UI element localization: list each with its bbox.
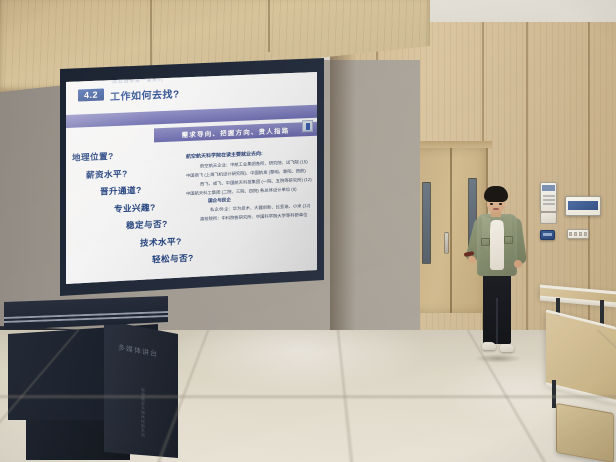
screen-surface: 就业指导第一课系列 4.2 工作如何去找? 需求导向、把握方向、贵人指路 地理位… — [66, 72, 317, 284]
slide-body-text: 航空航天科学院在读主要就业去向: 航空航天企业：中航工业集团各所、研究院、试飞院… — [186, 148, 314, 226]
switch-toggle[interactable] — [584, 232, 587, 236]
presenter-hand-right — [514, 260, 522, 268]
slide-left-question-list: 地理位置? 薪资水平? 晋升通道? 专业兴趣? 稳定与否? 技术水平? 轻松与否… — [66, 147, 184, 274]
wall-corner-shadow — [330, 22, 356, 352]
wall-sensor-box — [540, 212, 557, 224]
list-item: 专业兴趣? — [66, 200, 184, 217]
door-center-seam — [450, 148, 452, 313]
control-panel-screen — [568, 201, 598, 210]
presenter-eye-left — [490, 203, 493, 205]
presenter-leg-seam — [496, 298, 498, 344]
presenter-shoe-right — [500, 344, 514, 352]
switch-toggle[interactable] — [574, 232, 577, 236]
blue-wall-device[interactable] — [540, 230, 555, 240]
wall-notice-card-holder — [540, 182, 557, 212]
switch-toggle[interactable] — [569, 232, 572, 236]
list-item: 稳定与否? — [66, 217, 184, 234]
light-switch-plate[interactable] — [567, 229, 589, 239]
presenter-hand-left — [467, 255, 476, 264]
door-window-left — [422, 182, 431, 264]
school-logo-icon — [302, 120, 313, 132]
door-handle[interactable] — [444, 232, 449, 254]
list-item: 晋升通道? — [66, 182, 184, 199]
list-item: 轻松与否? — [66, 252, 184, 269]
body-row: 高校院所：中科院各研究所、中国科学院大学等科研单位 — [186, 212, 314, 223]
presenter-jacket-pocket-left — [481, 238, 490, 246]
presenter-hair — [484, 186, 508, 202]
chair-back[interactable] — [556, 403, 614, 462]
slide-section-number: 4.2 — [78, 88, 104, 101]
presenter-shadow — [474, 354, 522, 363]
lectern[interactable]: 多媒体讲台 智慧教室多媒体控制系统 — [0, 296, 182, 462]
presenter-eye-right — [499, 203, 502, 205]
presentation-slide: 就业指导第一课系列 4.2 工作如何去找? 需求导向、把握方向、贵人指路 地理位… — [66, 72, 317, 284]
list-item: 地理位置? — [66, 147, 184, 164]
presenter-mouth — [493, 208, 499, 210]
slide-banner: 需求导向、把握方向、贵人指路 — [154, 122, 317, 143]
room-control-display-panel[interactable] — [565, 196, 601, 216]
slide-title: 工作如何去找? — [110, 85, 180, 103]
presenter-shirt-front — [490, 220, 504, 270]
list-item: 技术水平? — [66, 235, 184, 252]
presenter-shoe-left — [482, 342, 496, 350]
presenter-jacket-pocket-right — [504, 236, 513, 244]
presenter — [466, 186, 528, 368]
list-item: 薪资水平? — [66, 165, 184, 182]
device-label-strip — [543, 233, 553, 235]
notice-card-header — [542, 185, 555, 191]
body-title: 航空航天科学院在读主要就业去向: — [186, 148, 314, 160]
projection-screen: 就业指导第一课系列 4.2 工作如何去找? 需求导向、把握方向、贵人指路 地理位… — [58, 58, 326, 296]
lectern-side-text: 智慧教室多媒体控制系统 — [140, 387, 146, 438]
switch-toggle[interactable] — [579, 232, 582, 236]
classroom-photo: 就业指导第一课系列 4.2 工作如何去找? 需求导向、把握方向、贵人指路 地理位… — [0, 0, 616, 462]
